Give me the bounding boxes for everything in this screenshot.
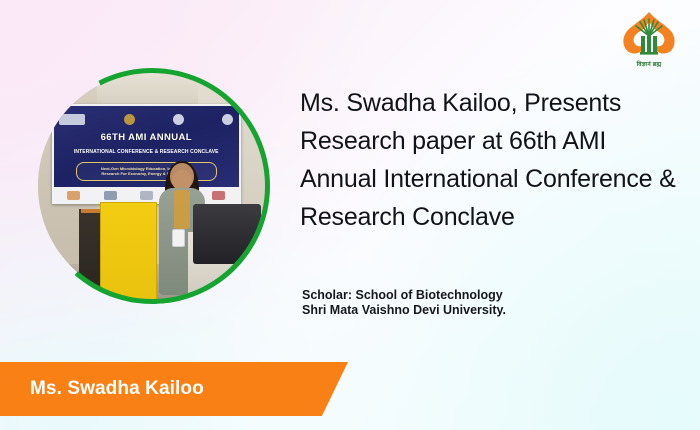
person-scarf <box>174 190 190 230</box>
sponsor-logo1-icon <box>104 191 117 200</box>
scholar-affiliation-line1: Scholar: School of Biotechnology <box>302 288 682 303</box>
backdrop-logo-partner1-icon <box>173 114 184 125</box>
backdrop-logo-host-icon <box>124 114 135 125</box>
backdrop-subtitle: INTERNATIONAL CONFERENCE & RESEARCH CONC… <box>54 149 239 155</box>
scholar-affiliation-line2: Shri Mata Vaishno Devi University. <box>302 303 682 318</box>
sponsor-logo2-icon <box>140 191 153 200</box>
photo-podium-side <box>79 209 102 300</box>
name-banner: Ms. Swadha Kailoo <box>0 362 348 416</box>
sponsor-logo4-icon <box>212 191 225 200</box>
sponsor-emblem-icon <box>67 191 80 200</box>
photo-scene: 66TH AMI ANNUAL INTERNATIONAL CONFERENCE… <box>38 72 266 300</box>
person-id-badge <box>172 229 185 246</box>
photo-podium <box>100 202 157 300</box>
page-title: Ms. Swadha Kailoo, Presents Research pap… <box>300 84 680 236</box>
name-banner-label: Ms. Swadha Kailoo <box>30 378 204 400</box>
scholar-affiliation: Scholar: School of Biotechnology Shri Ma… <box>302 288 682 318</box>
backdrop-logo-partner2-icon <box>222 114 233 125</box>
logo-motto: विज्ञानं ब्रह्म <box>612 62 686 69</box>
conference-backdrop-banner: 66TH AMI ANNUAL INTERNATIONAL CONFERENCE… <box>52 104 241 204</box>
photo-equipment <box>193 204 261 263</box>
backdrop-logo-row <box>59 110 233 129</box>
announcement-card: विज्ञानं ब्रह्म 66TH AMI ANNUAL INTERNAT… <box>0 0 700 430</box>
smvdu-logo-icon <box>612 6 686 68</box>
smvdu-logo: विज्ञानं ब्रह्म <box>612 6 686 68</box>
conference-photo: 66TH AMI ANNUAL INTERNATIONAL CONFERENCE… <box>38 72 266 300</box>
backdrop-logo-ami-icon <box>59 114 85 125</box>
backdrop-title: 66TH AMI ANNUAL <box>54 132 239 143</box>
